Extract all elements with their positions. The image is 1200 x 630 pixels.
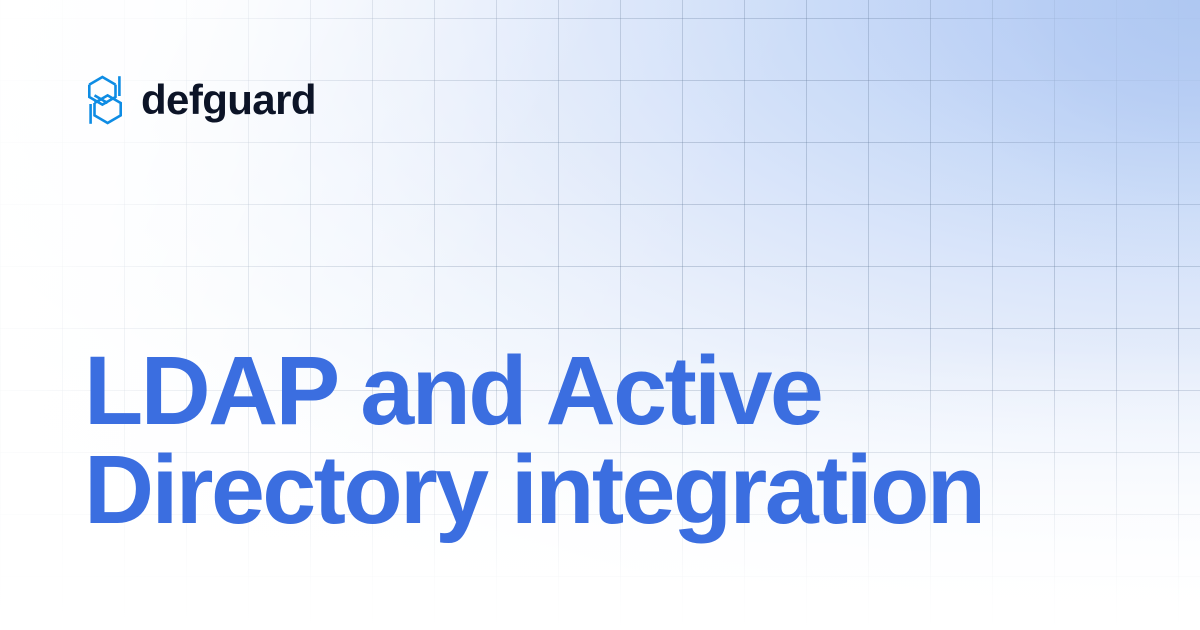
defguard-hexagon-s-logo-icon (86, 74, 124, 126)
share-card-canvas: defguard LDAP and Active Directory integ… (0, 0, 1200, 630)
page-title-line-2: Directory integration (84, 441, 1124, 540)
brand-logo-lockup[interactable]: defguard (86, 74, 316, 126)
page-title: LDAP and Active Directory integration (84, 342, 1124, 540)
brand-wordmark: defguard (141, 79, 316, 121)
page-title-line-1: LDAP and Active (84, 342, 1124, 441)
